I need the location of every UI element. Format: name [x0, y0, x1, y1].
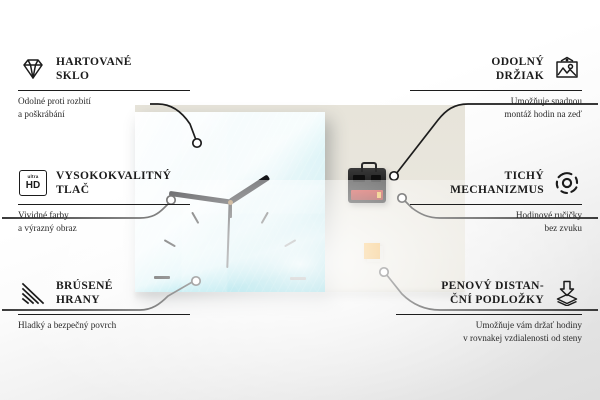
feature-description: Hodinové ručičky bez zvuku	[410, 209, 582, 234]
feature-desc-line1: Odolné proti rozbití	[18, 96, 91, 106]
arrow-down-pads-icon	[552, 279, 582, 307]
feature-title-line1: ODOLNÝ	[491, 56, 544, 68]
movement-detail-left	[353, 175, 365, 182]
feature-desc-line1: Hladký a bezpečný povrch	[18, 320, 116, 330]
feature-durable-holder: ODOLNÝ DRŽIAK Umožňuje snadnou montáž ho…	[410, 52, 582, 120]
foam-distance-pad	[364, 243, 380, 259]
feature-high-quality-print: ultra HD VYSOKOKVALITNÝ TLAČ Vividné far…	[18, 166, 190, 234]
feature-desc-line1: Umožňuje vám držať hodiny	[476, 320, 582, 330]
feature-desc-line2: montáž hodin na zeď	[504, 109, 582, 119]
feature-divider	[410, 204, 582, 205]
feature-header: ODOLNÝ DRŽIAK	[410, 52, 582, 86]
feature-header: HARTOVANÉ SKLO	[18, 52, 190, 86]
hd-badge: ultra HD	[19, 170, 47, 196]
quartz-clock-movement	[348, 168, 386, 203]
feature-divider	[410, 90, 582, 91]
feature-silent-mechanism: TICHÝ MECHANIZMUS Hodinové ručičky bez z…	[410, 166, 582, 234]
feature-title-line1: BRÚSENÉ	[56, 280, 113, 292]
ultra-hd-badge-icon: ultra HD	[18, 169, 48, 197]
feature-divider	[18, 314, 190, 315]
feature-header: ultra HD VYSOKOKVALITNÝ TLAČ	[18, 166, 190, 200]
brushed-edges-icon	[18, 279, 48, 307]
feature-divider	[396, 314, 582, 315]
feature-title-line1: TICHÝ	[505, 170, 544, 182]
gear-icon	[552, 169, 582, 197]
feature-title: PENOVÝ DISTAN- ČNÍ PODLOŽKY	[441, 279, 544, 308]
feature-title-line1: VYSOKOKVALITNÝ	[56, 170, 171, 182]
feature-foam-spacers: PENOVÝ DISTAN- ČNÍ PODLOŽKY Umožňuje vám…	[396, 276, 582, 344]
product-infographic: HARTOVANÉ SKLO Odolné proti rozbití a po…	[0, 0, 600, 400]
feature-title-line2: HRANY	[56, 294, 100, 306]
feature-title-line1: HARTOVANÉ	[56, 56, 132, 68]
feature-header: BRÚSENÉ HRANY	[18, 276, 190, 310]
movement-hanger-hook	[361, 162, 377, 172]
feature-desc-line1: Vividné farby	[18, 210, 69, 220]
movement-battery	[351, 190, 383, 200]
feature-description: Vividné farby a výrazný obraz	[18, 209, 190, 234]
feature-header: PENOVÝ DISTAN- ČNÍ PODLOŽKY	[396, 276, 582, 310]
feature-desc-line2: v rovnakej vzdialenosti od steny	[463, 333, 582, 343]
feature-hardened-glass: HARTOVANÉ SKLO Odolné proti rozbití a po…	[18, 52, 190, 120]
clock-tick	[230, 277, 297, 292]
feature-header: TICHÝ MECHANIZMUS	[410, 166, 582, 200]
feature-title-line1: PENOVÝ DISTAN-	[441, 280, 544, 292]
hd-badge-large-label: HD	[26, 181, 40, 191]
clock-center-pin	[228, 200, 233, 205]
diamond-icon	[18, 55, 48, 83]
feature-title-line2: TLAČ	[56, 184, 89, 196]
feature-description: Umožňuje snadnou montáž hodin na zeď	[410, 95, 582, 120]
feature-description: Odolné proti rozbití a poškrábání	[18, 95, 190, 120]
clock-tick	[230, 277, 306, 279]
feature-desc-line1: Hodinové ručičky	[516, 210, 582, 220]
movement-detail-right	[371, 175, 381, 182]
picture-frame-hanger-icon	[552, 55, 582, 83]
feature-title: HARTOVANÉ SKLO	[56, 55, 132, 84]
feature-title: TICHÝ MECHANIZMUS	[450, 169, 544, 198]
feature-title-line2: DRŽIAK	[496, 70, 544, 82]
feature-desc-line2: a poškrábání	[18, 109, 65, 119]
feature-divider	[18, 204, 190, 205]
feature-description: Hladký a bezpečný povrch	[18, 319, 190, 331]
feature-title-line2: SKLO	[56, 70, 89, 82]
feature-polished-edges: BRÚSENÉ HRANY Hladký a bezpečný povrch	[18, 276, 190, 332]
feature-desc-line1: Umožňuje snadnou	[511, 96, 582, 106]
feature-title: ODOLNÝ DRŽIAK	[491, 55, 544, 84]
feature-title: BRÚSENÉ HRANY	[56, 279, 113, 308]
feature-title-line2: ČNÍ PODLOŽKY	[450, 294, 544, 306]
feature-title: VYSOKOKVALITNÝ TLAČ	[56, 169, 171, 198]
feature-description: Umožňuje vám držať hodiny v rovnakej vzd…	[396, 319, 582, 344]
clock-tick	[229, 212, 269, 279]
feature-divider	[18, 90, 190, 91]
feature-desc-line2: a výrazný obraz	[18, 223, 77, 233]
feature-title-line2: MECHANIZMUS	[450, 184, 544, 196]
feature-desc-line2: bez zvuku	[545, 223, 583, 233]
